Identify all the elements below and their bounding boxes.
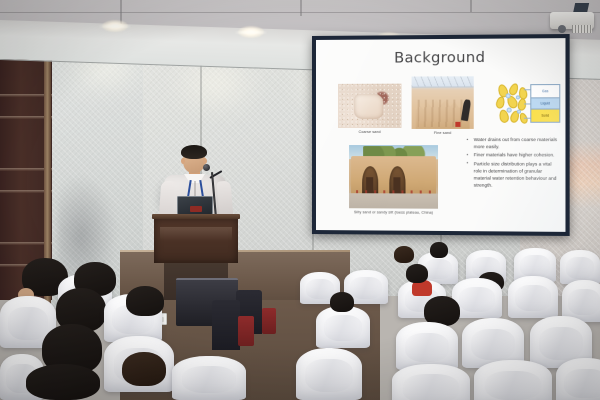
chair [396, 322, 458, 370]
screen-surface: Background Coarse sand Fine sand [316, 38, 565, 232]
ceiling-downlight [102, 20, 128, 32]
phase-legend: Gas Liquid Solid [530, 84, 560, 123]
ceiling-projector [544, 3, 598, 33]
audience-head [26, 364, 100, 400]
seat-cushion [262, 308, 276, 334]
loess-plateau-caption: Silty sand or sandy silt (loess plateau,… [336, 210, 451, 215]
audience-seating [0, 236, 600, 400]
slide-bullet-list: Water drains out from coarse materials m… [466, 137, 561, 191]
courtyard-ground [349, 193, 438, 209]
laptop-screen-content [190, 206, 202, 212]
seat-cushion [238, 316, 254, 346]
coarse-sand-photo [338, 84, 401, 128]
chair [172, 356, 246, 400]
audience-head [126, 286, 164, 316]
audience-head [406, 264, 428, 283]
earth-dwelling-facade [351, 156, 436, 193]
audience-head [122, 352, 166, 386]
slide-title: Background [316, 49, 565, 67]
coarse-sand-caption: Coarse sand [338, 130, 401, 134]
projector-lens [558, 25, 566, 33]
three-phase-diagram: Gas Liquid Solid [496, 81, 560, 128]
presenter-ear [181, 158, 185, 164]
chair [296, 348, 362, 400]
chair [474, 360, 552, 400]
bullet-item: Particle size distribution plays a vital… [466, 161, 561, 190]
chair [392, 364, 470, 400]
ceiling-downlight [238, 26, 264, 38]
chair [560, 250, 600, 284]
chair [556, 358, 600, 400]
loess-plateau-photo [349, 145, 438, 209]
bullet-item: Water drains out from coarse materials m… [466, 137, 561, 151]
presentation-slide: Background Coarse sand Fine sand [316, 38, 565, 232]
hand-holding-sand [354, 93, 383, 119]
audience-head [430, 242, 448, 258]
microphone-head [203, 164, 210, 171]
legend-liquid: Liquid [531, 97, 559, 109]
fine-sand-caption: Fine sand [412, 131, 474, 135]
presenter-hair [181, 145, 207, 159]
red-object [456, 122, 460, 127]
projection-screen: Background Coarse sand Fine sand [312, 34, 570, 236]
laptop-screen [177, 196, 213, 215]
bullet-item: Finer materials have higher cohesion. [466, 153, 561, 160]
projector-vent [572, 25, 592, 33]
sky-background [412, 76, 474, 88]
legend-gas: Gas [531, 85, 559, 97]
legend-solid: Solid [531, 109, 559, 121]
projector-body [550, 12, 594, 29]
chair [508, 276, 558, 318]
audience-head [394, 246, 414, 263]
lecture-hall-photo: Background Coarse sand Fine sand [0, 0, 600, 400]
fine-sand-photo [412, 76, 474, 129]
seat-back [212, 300, 240, 350]
audience-head [330, 292, 354, 312]
chair [316, 306, 370, 348]
